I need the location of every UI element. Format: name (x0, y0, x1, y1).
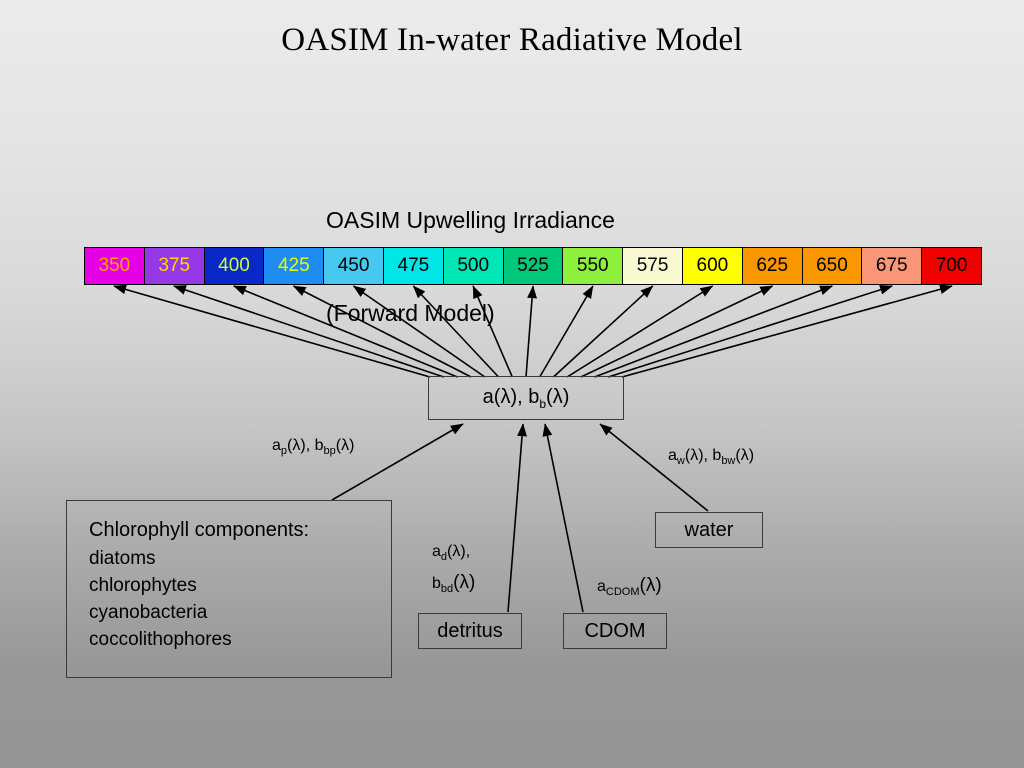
spectrum-band[interactable]: 550 (563, 248, 623, 284)
spectrum-band[interactable]: 575 (623, 248, 683, 284)
spectrum-band[interactable]: 400 (205, 248, 265, 284)
spectrum-band[interactable]: 375 (145, 248, 205, 284)
chlorophyll-item: chlorophytes (89, 572, 197, 599)
spectrum-band-label: 425 (278, 255, 310, 277)
spectrum-band-label: 450 (338, 255, 370, 277)
cdom-box[interactable]: CDOM (563, 613, 667, 649)
arrow-chlorophyll-to-iop (332, 424, 463, 500)
spectrum-band-label: 525 (517, 255, 549, 277)
iop-box-label: a(λ), bb(λ) (483, 386, 570, 411)
spectrum-band[interactable]: 500 (444, 248, 504, 284)
water-iop-label: aw(λ), bbw(λ) (668, 447, 754, 467)
chlorophyll-item: cyanobacteria (89, 599, 207, 626)
spectrum-band-label: 550 (577, 255, 609, 277)
spectrum-band[interactable]: 350 (85, 248, 145, 284)
cdom-iop-label: aCDOM(λ) (597, 575, 662, 598)
detritus-iop-label-line2: bbd(λ) (432, 570, 475, 602)
iop-box[interactable]: a(λ), bb(λ) (428, 376, 624, 420)
detritus-iop-label-line1: ad(λ), (432, 543, 470, 560)
spectrum-band[interactable]: 675 (862, 248, 922, 284)
spectrum-band-label: 475 (398, 255, 430, 277)
arrow-iop-to-band-700 (622, 286, 952, 377)
spectrum-band-label: 575 (637, 255, 669, 277)
spectrum-band-label: 375 (158, 255, 190, 277)
detritus-box[interactable]: detritus (418, 613, 522, 649)
chlorophyll-box-title: Chlorophyll components: (89, 519, 309, 542)
spectrum-band-label: 350 (99, 255, 131, 277)
spectrum-band[interactable]: 475 (384, 248, 444, 284)
spectrum-band[interactable]: 650 (803, 248, 863, 284)
arrow-cdom-to-iop (545, 424, 583, 612)
spectrum-band[interactable]: 525 (504, 248, 564, 284)
spectrum-band-label: 650 (816, 255, 848, 277)
chlorophyll-item: diatoms (89, 545, 156, 572)
spectrum-band-label: 500 (457, 255, 489, 277)
spectrum-band-bar: 350 375 400 425 450 475 500 525 550 575 … (84, 247, 982, 285)
spectrum-band[interactable]: 425 (264, 248, 324, 284)
water-box[interactable]: water (655, 512, 763, 548)
spectrum-band-label: 400 (218, 255, 250, 277)
spectrum-band-label: 625 (756, 255, 788, 277)
chlorophyll-components-box[interactable]: Chlorophyll components: diatoms chloroph… (66, 500, 392, 678)
arrow-detritus-to-iop (508, 424, 523, 612)
detritus-iop-label: ad(λ), bbd(λ) (432, 539, 475, 602)
detritus-box-label: detritus (437, 620, 503, 643)
phytoplankton-iop-label: ap(λ), bbp(λ) (272, 437, 354, 457)
arrow-iop-to-band-675 (608, 286, 892, 377)
subtitle-line-2: (Forward Model) (326, 298, 615, 329)
water-box-label: water (685, 519, 734, 542)
subtitle-line-1: OASIM Upwelling Irradiance (326, 205, 615, 236)
page-title: OASIM In-water Radiative Model (0, 22, 1024, 59)
arrow-water-to-iop (600, 424, 708, 511)
spectrum-band-label: 675 (876, 255, 908, 277)
spectrum-band[interactable]: 625 (743, 248, 803, 284)
spectrum-band[interactable]: 600 (683, 248, 743, 284)
spectrum-band[interactable]: 700 (922, 248, 981, 284)
slide-canvas: OASIM In-water Radiative Model OASIM Upw… (0, 0, 1024, 768)
cdom-box-label: CDOM (584, 620, 645, 643)
chlorophyll-item: coccolithophores (89, 626, 232, 653)
spectrum-band[interactable]: 450 (324, 248, 384, 284)
arrow-iop-to-band-650 (595, 286, 833, 377)
spectrum-band-label: 700 (936, 255, 968, 277)
spectrum-band-label: 600 (697, 255, 729, 277)
